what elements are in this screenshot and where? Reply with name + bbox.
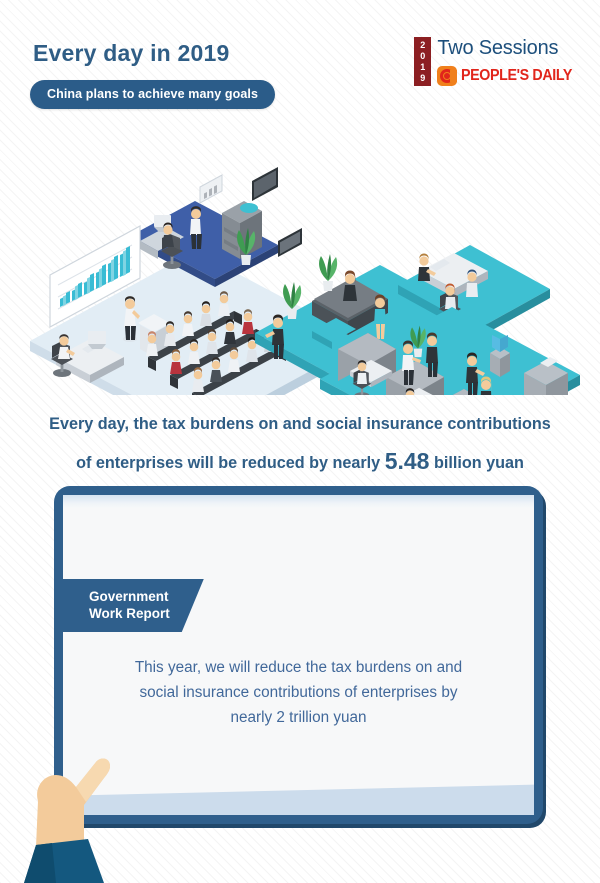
logo-year-digit-1: 2: [420, 40, 425, 51]
headline-line-2-after: billion yuan: [434, 454, 524, 472]
quote-line-3: nearly 2 trillion yuan: [101, 705, 496, 730]
headline-highlight-number: 5.48: [385, 448, 430, 474]
quote-line-1: This year, we will reduce the tax burden…: [101, 655, 496, 680]
logo-text-group: Two Sessions PEOPLE'S DAILY: [437, 37, 582, 86]
isometric-office-illustration: [20, 125, 590, 395]
banner-line-2: Work Report: [89, 605, 170, 622]
quote-line-2: social insurance contributions of enterp…: [101, 680, 496, 705]
government-work-report-banner: Government Work Report: [63, 579, 204, 632]
peoples-daily-lockup: PEOPLE'S DAILY: [437, 66, 582, 86]
page-title: Every day in 2019: [33, 40, 229, 67]
infographic-poster: Every day in 2019 China plans to achieve…: [0, 0, 600, 883]
peoples-daily-logo-icon: [437, 66, 457, 86]
banner-line-1: Government: [89, 588, 170, 605]
headline-line-2-before: of enterprises will be reduced by nearly: [76, 454, 380, 472]
peoples-daily-text: PEOPLE'S DAILY: [461, 67, 572, 85]
hand-holding-board: [0, 735, 160, 883]
headline-line-2: of enterprises will be reduced by nearly…: [0, 444, 600, 483]
brand-logo: 2 0 1 9 Two Sessions PEOPLE'S DAILY: [414, 37, 582, 86]
quote-text: This year, we will reduce the tax burden…: [63, 655, 534, 730]
logo-year-digit-4: 9: [420, 73, 425, 84]
logo-year-digit-3: 1: [420, 62, 425, 73]
sleeve-shade: [24, 843, 56, 883]
board-gloss-top: [63, 495, 534, 508]
subtitle-pill-badge: China plans to achieve many goals: [30, 80, 275, 109]
logo-year-block: 2 0 1 9: [414, 37, 431, 86]
logo-two-sessions-text: Two Sessions: [437, 37, 582, 59]
logo-year-digit-2: 0: [420, 51, 425, 62]
headline: Every day, the tax burdens on and social…: [0, 405, 600, 483]
headline-line-1: Every day, the tax burdens on and social…: [0, 405, 600, 444]
